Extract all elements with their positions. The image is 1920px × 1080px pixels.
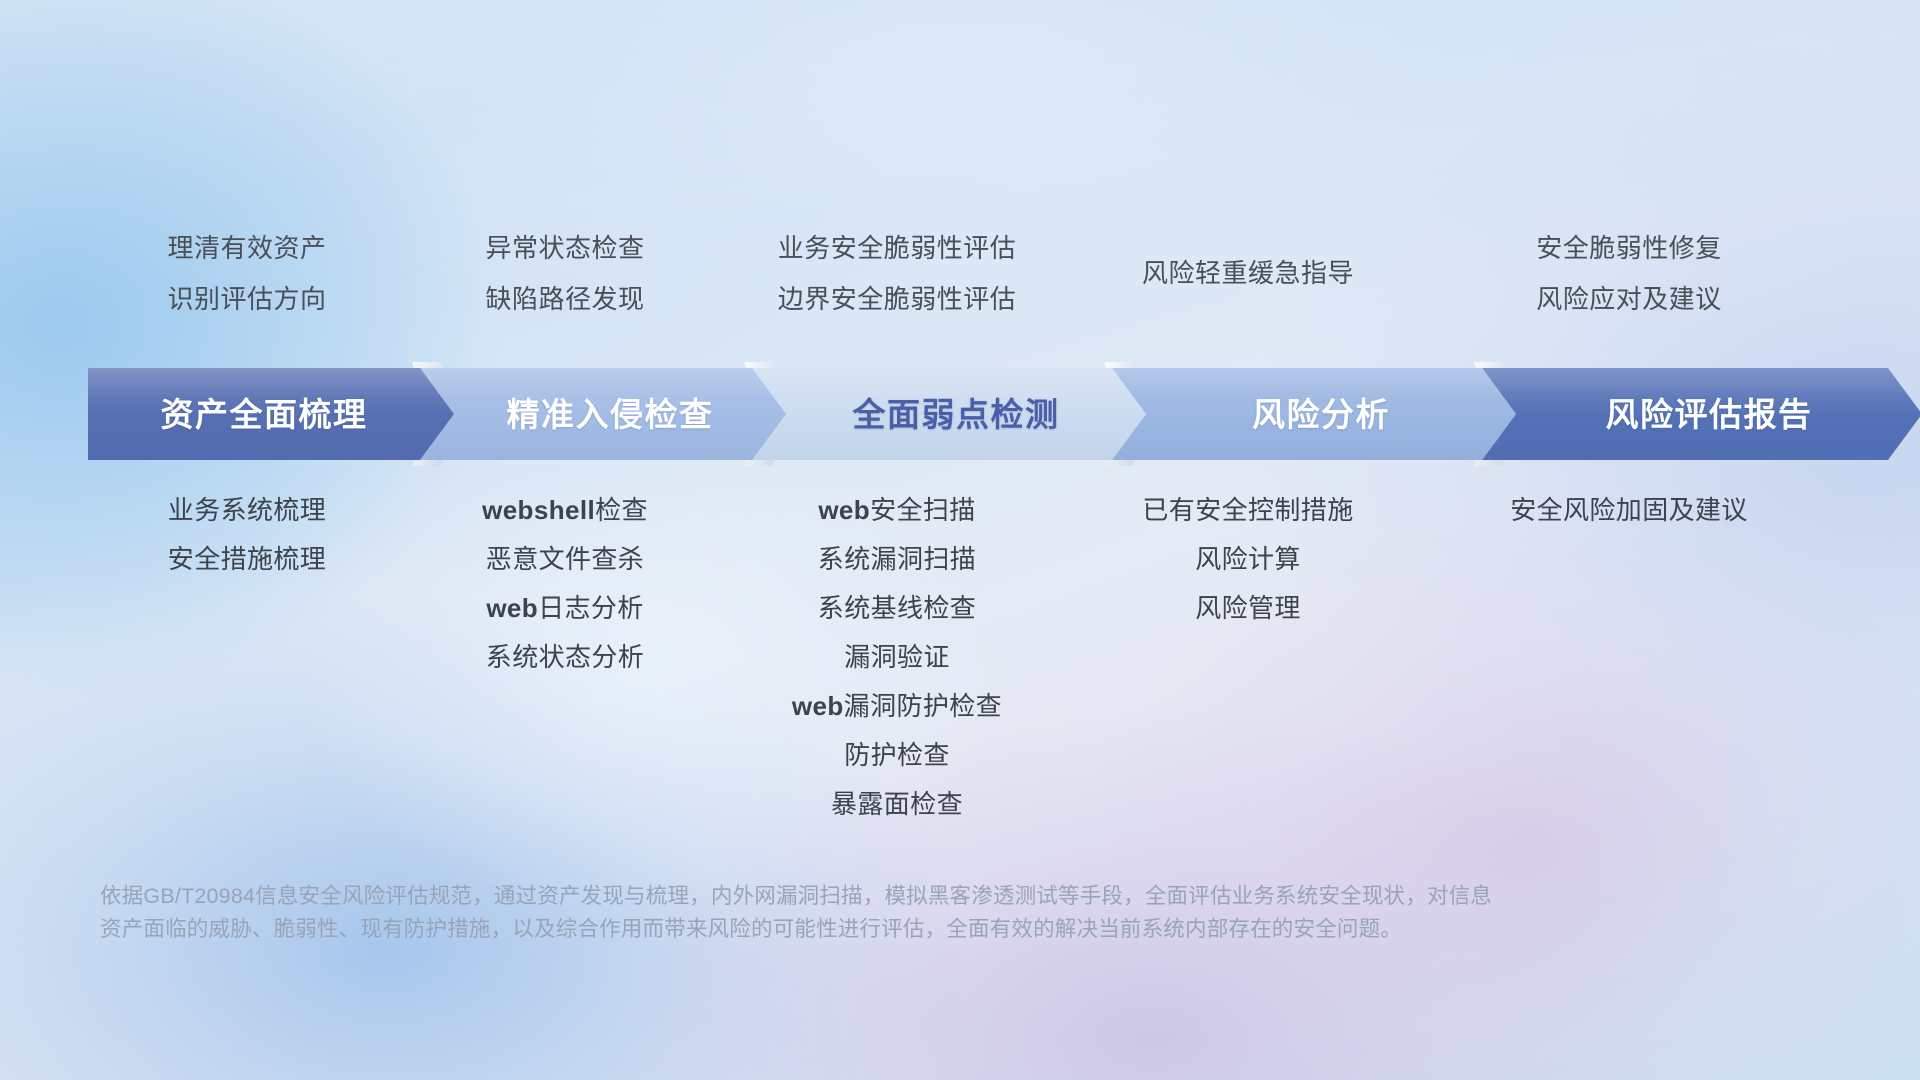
top-label: 风险应对及建议 xyxy=(1426,286,1832,312)
bottom-label: 业务系统梳理 xyxy=(88,497,406,523)
bottom-label: 漏洞验证 xyxy=(724,644,1070,670)
top-labels-weakness-detection: 业务安全脆弱性评估边界安全脆弱性评估 xyxy=(724,235,1070,312)
bottom-label: 系统基线检查 xyxy=(724,595,1070,621)
bottom-label-emphasis: web xyxy=(486,593,538,623)
slide-canvas: 理清有效资产识别评估方向异常状态检查缺陷路径发现业务安全脆弱性评估边界安全脆弱性… xyxy=(0,0,1920,1080)
arrow-stage-label: 资产全面梳理 xyxy=(161,398,368,431)
bottom-label: 已有安全控制措施 xyxy=(1070,497,1426,523)
top-labels-risk-report: 安全脆弱性修复风险应对及建议 xyxy=(1426,235,1832,312)
bottom-label: 风险计算 xyxy=(1070,546,1426,572)
top-label: 安全脆弱性修复 xyxy=(1426,235,1832,261)
arrow-stage-risk-analysis[interactable]: 风险分析 xyxy=(1112,368,1516,460)
bottom-label: 系统状态分析 xyxy=(406,644,724,670)
bottom-labels-risk-report: 安全风险加固及建议 xyxy=(1426,497,1832,817)
top-labels-asset-inventory: 理清有效资产识别评估方向 xyxy=(88,235,406,312)
top-label-row: 理清有效资产识别评估方向异常状态检查缺陷路径发现业务安全脆弱性评估边界安全脆弱性… xyxy=(88,235,1832,312)
bottom-label: webshell检查 xyxy=(406,497,724,523)
bottom-label: 风险管理 xyxy=(1070,595,1426,621)
footer-line-2: 资产面临的威胁、脆弱性、现有防护措施，以及综合作用而带来风险的可能性进行评估，全… xyxy=(100,913,1740,946)
bottom-labels-asset-inventory: 业务系统梳理安全措施梳理 xyxy=(88,497,406,817)
top-label: 识别评估方向 xyxy=(88,286,406,312)
bottom-label-row: 业务系统梳理安全措施梳理webshell检查恶意文件查杀web日志分析系统状态分… xyxy=(88,497,1832,817)
top-label: 业务安全脆弱性评估 xyxy=(724,235,1070,261)
arrow-stage-intrusion-check[interactable]: 精准入侵检查 xyxy=(420,368,786,460)
top-label: 风险轻重缓急指导 xyxy=(1070,260,1426,286)
arrow-stage-label: 风险评估报告 xyxy=(1606,398,1813,431)
bottom-label: 恶意文件查杀 xyxy=(406,546,724,572)
bottom-label: web安全扫描 xyxy=(724,497,1070,523)
bottom-label: web漏洞防护检查 xyxy=(724,693,1070,719)
diagram-content: 理清有效资产识别评估方向异常状态检查缺陷路径发现业务安全脆弱性评估边界安全脆弱性… xyxy=(0,0,1920,1080)
top-labels-risk-analysis: 风险轻重缓急指导 xyxy=(1070,235,1426,312)
footer-line-1: 依据GB/T20984信息安全风险评估规范，通过资产发现与梳理，内外网漏洞扫描，… xyxy=(100,880,1740,913)
bottom-label-emphasis: webshell xyxy=(482,495,595,525)
footer-description: 依据GB/T20984信息安全风险评估规范，通过资产发现与梳理，内外网漏洞扫描，… xyxy=(100,880,1740,947)
bottom-labels-risk-analysis: 已有安全控制措施风险计算风险管理 xyxy=(1070,497,1426,817)
top-label: 边界安全脆弱性评估 xyxy=(724,286,1070,312)
bottom-label: 安全措施梳理 xyxy=(88,546,406,572)
bottom-labels-weakness-detection: web安全扫描系统漏洞扫描系统基线检查漏洞验证web漏洞防护检查防护检查暴露面检… xyxy=(724,497,1070,817)
top-label: 缺陷路径发现 xyxy=(406,286,724,312)
bottom-label-rest: 日志分析 xyxy=(538,593,644,623)
bottom-label: 防护检查 xyxy=(724,742,1070,768)
arrow-stage-label: 精准入侵检查 xyxy=(507,398,714,431)
arrow-stage-risk-report[interactable]: 风险评估报告 xyxy=(1482,368,1920,460)
bottom-label: web日志分析 xyxy=(406,595,724,621)
bottom-label: 暴露面检查 xyxy=(724,791,1070,817)
bottom-labels-intrusion-check: webshell检查恶意文件查杀web日志分析系统状态分析 xyxy=(406,497,724,817)
bottom-label-rest: 漏洞防护检查 xyxy=(844,691,1002,721)
arrow-stage-asset-inventory[interactable]: 资产全面梳理 xyxy=(88,368,454,460)
top-label: 异常状态检查 xyxy=(406,235,724,261)
bottom-label: 系统漏洞扫描 xyxy=(724,546,1070,572)
bottom-label-rest: 检查 xyxy=(595,495,648,525)
process-arrow-band: 资产全面梳理精准入侵检查全面弱点检测风险分析风险评估报告 xyxy=(88,368,1832,460)
top-labels-intrusion-check: 异常状态检查缺陷路径发现 xyxy=(406,235,724,312)
bottom-label-emphasis: web xyxy=(818,495,870,525)
bottom-label: 安全风险加固及建议 xyxy=(1426,497,1832,523)
bottom-label-rest: 安全扫描 xyxy=(870,495,976,525)
arrow-stage-label: 全面弱点检测 xyxy=(853,398,1060,431)
arrow-stage-label: 风险分析 xyxy=(1252,398,1390,431)
top-label: 理清有效资产 xyxy=(88,235,406,261)
bottom-label-emphasis: web xyxy=(792,691,844,721)
arrow-stage-weakness-detection[interactable]: 全面弱点检测 xyxy=(752,368,1146,460)
